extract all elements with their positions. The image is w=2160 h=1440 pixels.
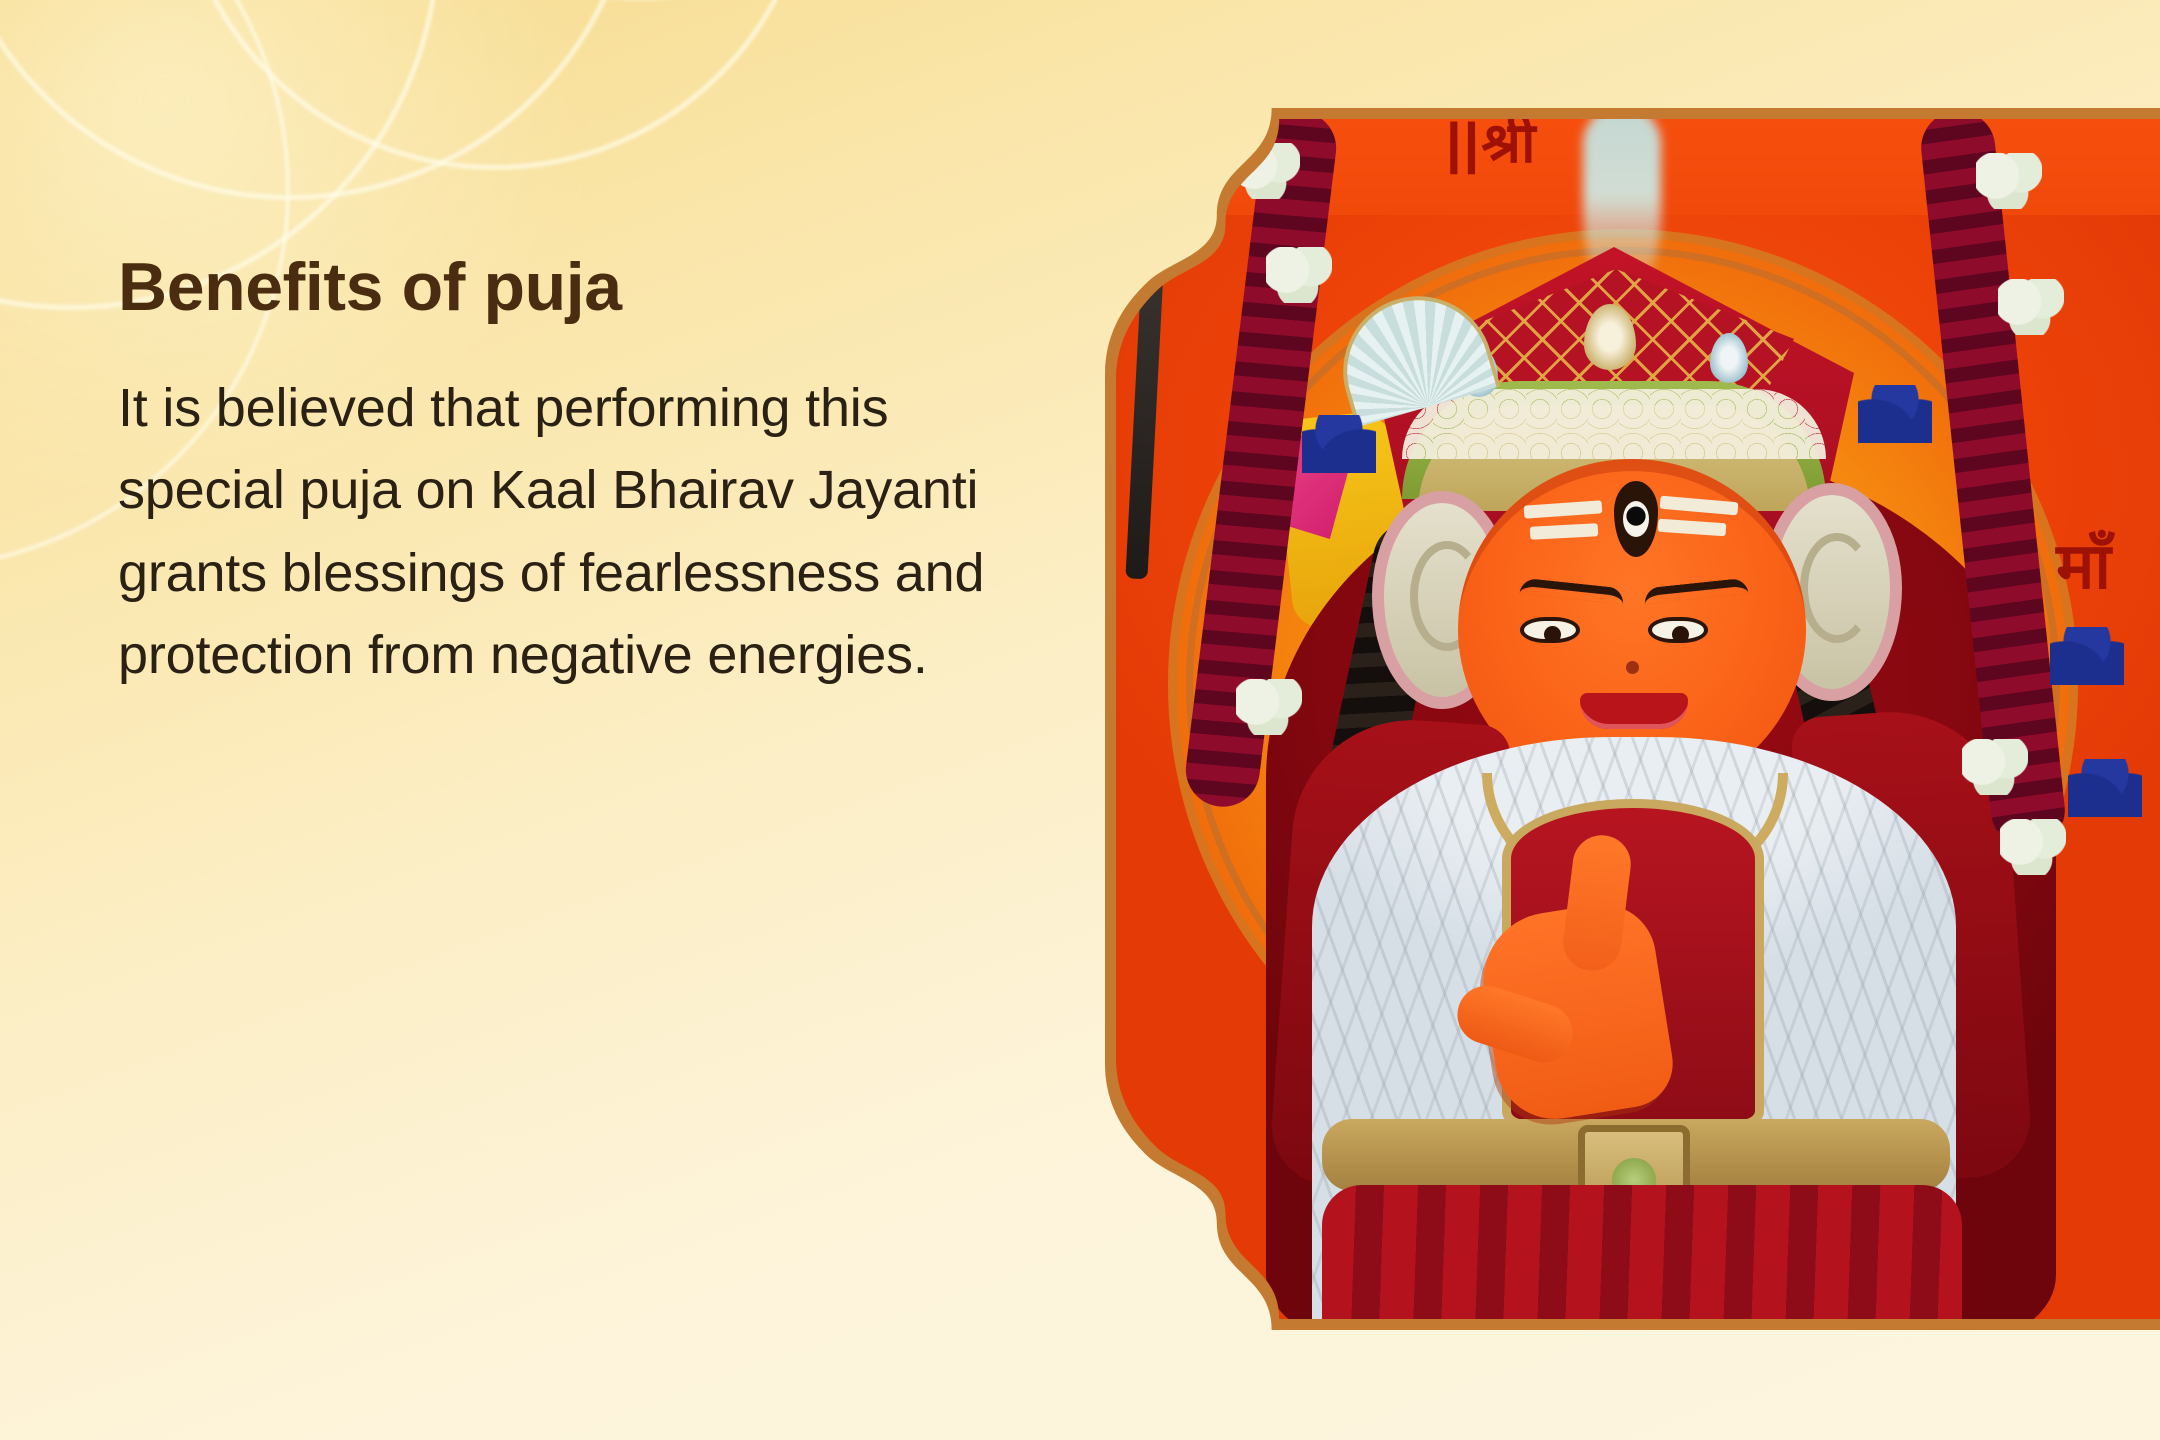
eyebrow-right [1643, 578, 1748, 605]
deity-photo: ||श्री [1116, 119, 2160, 1319]
decor-circle-icon [0, 0, 640, 200]
forehead-mark [1530, 523, 1599, 540]
lotus-motif-icon [1302, 415, 1376, 473]
text-panel: Benefits of puja It is believed that per… [118, 252, 1058, 696]
page-title: Benefits of puja [118, 252, 1058, 323]
lower-garment [1322, 1185, 1962, 1319]
flower-cluster-icon [1962, 739, 2028, 795]
lotus-motif-icon [1858, 385, 1932, 443]
wall-devanagari-text: माँ [2056, 534, 2111, 598]
lotus-motif-icon [2068, 759, 2142, 817]
crown-pearl-row [1402, 389, 1826, 459]
banner-devanagari-text: ||श्री [1446, 119, 1538, 179]
ear-swirl-right [1800, 533, 1874, 643]
flower-cluster-icon [1236, 679, 1302, 735]
eyebrow-left [1519, 578, 1624, 605]
eye-left [1520, 617, 1580, 643]
card-image-clip: ||श्री [1116, 119, 2160, 1319]
mouth [1580, 693, 1688, 729]
body-paragraph: It is believed that performing this spec… [118, 367, 1023, 695]
decor-circle-icon [175, 0, 815, 170]
forehead-mark [1524, 500, 1603, 518]
eye-right [1648, 617, 1708, 643]
lotus-motif-icon [2050, 627, 2124, 685]
flower-cluster-icon [2000, 819, 2066, 875]
forehead-mark [1660, 496, 1739, 516]
nose-stud [1626, 661, 1639, 674]
slide-canvas: Benefits of puja It is believed that per… [0, 0, 2160, 1440]
deity-image-card: ||श्री [1105, 108, 2160, 1330]
flower-cluster-icon [1976, 153, 2042, 209]
flower-cluster-icon [1266, 247, 1332, 303]
third-eye-icon [1614, 481, 1658, 557]
forehead-mark [1658, 519, 1727, 537]
flower-cluster-icon [1998, 279, 2064, 335]
